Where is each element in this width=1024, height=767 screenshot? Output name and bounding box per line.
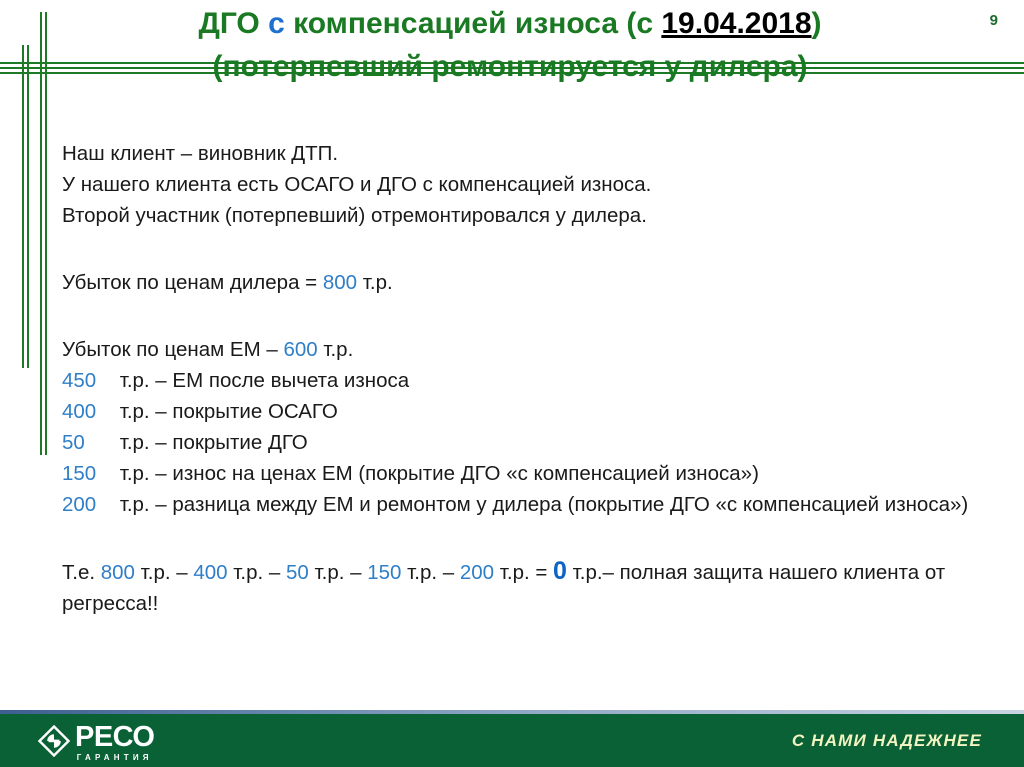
summary-total-zero: 0	[553, 557, 567, 585]
spacer-2	[62, 298, 992, 334]
summary-value-1: 800	[101, 561, 135, 584]
dealer-loss-label: Убыток по ценам дилера =	[62, 271, 323, 294]
breakdown-text: т.р. – износ на ценах ЕМ (покрытие ДГО «…	[114, 462, 759, 485]
summary-sep-3: т.р. –	[309, 561, 367, 584]
breakdown-item: 400 т.р. – покрытие ОСАГО	[62, 396, 992, 427]
decor-vertical-line-long-1	[40, 12, 42, 455]
spacer-1	[62, 231, 992, 267]
slide-title-line-1: ДГО с компенсацией износа (с 19.04.2018)	[60, 2, 960, 45]
em-loss-value: 600	[283, 338, 317, 361]
summary-sep-1: т.р. –	[135, 561, 193, 584]
summary-line: Т.е. 800 т.р. – 400 т.р. – 50 т.р. – 150…	[62, 556, 992, 619]
em-loss-unit: т.р.	[318, 338, 354, 361]
breakdown-value: 150	[62, 458, 114, 489]
summary-prefix: Т.е.	[62, 561, 101, 584]
slide-title-line-2: (потерпевший ремонтируется у дилера)	[60, 45, 960, 88]
page-number: 9	[990, 12, 998, 29]
decor-vertical-line-short-2	[27, 45, 29, 368]
slide-body: Наш клиент – виновник ДТП. У нашего клие…	[62, 138, 992, 619]
reso-logo-subtitle: ГАРАНТИЯ	[75, 753, 154, 762]
summary-value-2: 400	[193, 561, 227, 584]
reso-logo: РЕСО ГАРАНТИЯ	[38, 723, 154, 762]
reso-logo-text: РЕСО	[75, 721, 154, 753]
slide-title: ДГО с компенсацией износа (с 19.04.2018)…	[60, 2, 960, 88]
summary-value-5: 200	[460, 561, 494, 584]
summary-value-3: 50	[286, 561, 309, 584]
footer-tagline: С НАМИ НАДЕЖНЕЕ	[792, 731, 982, 751]
footer-bar: РЕСО ГАРАНТИЯ С НАМИ НАДЕЖНЕЕ	[0, 714, 1024, 767]
breakdown-item: 150 т.р. – износ на ценах ЕМ (покрытие Д…	[62, 458, 992, 489]
title-segment-close-paren: )	[812, 7, 822, 40]
breakdown-item: 450 т.р. – ЕМ после вычета износа	[62, 365, 992, 396]
intro-line-2: У нашего клиента есть ОСАГО и ДГО с комп…	[62, 169, 992, 200]
title-segment-compensation: компенсацией износа (с	[285, 7, 662, 40]
breakdown-item: 50 т.р. – покрытие ДГО	[62, 427, 992, 458]
summary-sep-5: т.р. =	[494, 561, 553, 584]
title-effective-date: 19.04.2018	[661, 7, 811, 40]
breakdown-value: 450	[62, 365, 114, 396]
intro-line-3: Второй участник (потерпевший) отремонтир…	[62, 200, 992, 231]
dealer-loss-unit: т.р.	[357, 271, 393, 294]
decor-vertical-line-long-2	[45, 12, 47, 455]
reso-wordmark: РЕСО ГАРАНТИЯ	[75, 723, 154, 762]
summary-value-4: 150	[367, 561, 401, 584]
breakdown-value: 50	[62, 427, 114, 458]
breakdown-text: т.р. – покрытие ОСАГО	[114, 400, 338, 423]
em-loss-line: Убыток по ценам ЕМ – 600 т.р.	[62, 334, 992, 365]
breakdown-text: т.р. – ЕМ после вычета износа	[114, 369, 409, 392]
breakdown-value: 200	[62, 489, 114, 520]
decor-vertical-line-short-1	[22, 45, 24, 368]
breakdown-text: т.р. – разница между ЕМ и ремонтом у дил…	[114, 493, 968, 516]
title-segment-dgo: ДГО	[198, 7, 268, 40]
dealer-loss-value: 800	[323, 271, 357, 294]
spacer-3	[62, 520, 992, 556]
dealer-loss-line: Убыток по ценам дилера = 800 т.р.	[62, 267, 992, 298]
slide-canvas: 9 ДГО с компенсацией износа (с 19.04.201…	[0, 0, 1024, 767]
reso-pinwheel-icon	[38, 725, 70, 762]
intro-line-1: Наш клиент – виновник ДТП.	[62, 138, 992, 169]
breakdown-item: 200 т.р. – разница между ЕМ и ремонтом у…	[62, 489, 992, 520]
em-loss-label: Убыток по ценам ЕМ –	[62, 338, 283, 361]
summary-sep-4: т.р. –	[401, 561, 459, 584]
summary-sep-2: т.р. –	[228, 561, 286, 584]
breakdown-text: т.р. – покрытие ДГО	[114, 431, 308, 454]
breakdown-value: 400	[62, 396, 114, 427]
title-segment-s: с	[268, 7, 285, 40]
